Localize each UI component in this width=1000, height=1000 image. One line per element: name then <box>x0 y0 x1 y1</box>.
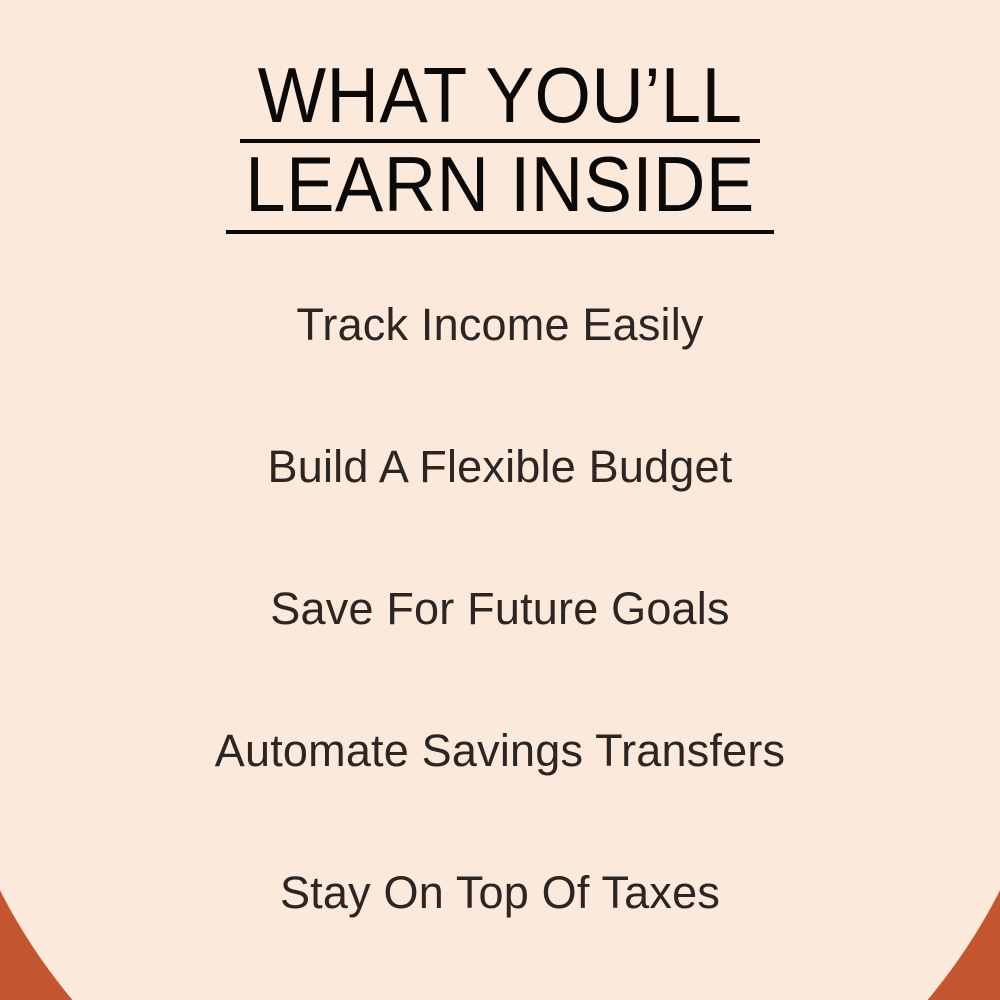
list-item: Stay On Top Of Taxes <box>0 870 1000 1000</box>
title-line-1: WHAT YOU’LL <box>35 58 965 133</box>
poster-canvas: WHAT YOU’LL LEARN INSIDE Track Income Ea… <box>0 0 1000 1000</box>
list-item: Build A Flexible Budget <box>0 444 1000 586</box>
title-underline-2 <box>226 230 774 234</box>
page-title: WHAT YOU’LL LEARN INSIDE <box>0 58 1000 238</box>
list-item: Automate Savings Transfers <box>0 728 1000 870</box>
list-item: Save For Future Goals <box>0 586 1000 728</box>
title-line-2: LEARN INSIDE <box>35 147 965 222</box>
poster-content: WHAT YOU’LL LEARN INSIDE Track Income Ea… <box>0 0 1000 1000</box>
list-item: Track Income Easily <box>0 288 1000 444</box>
benefit-list: Track Income Easily Build A Flexible Bud… <box>0 288 1000 1000</box>
